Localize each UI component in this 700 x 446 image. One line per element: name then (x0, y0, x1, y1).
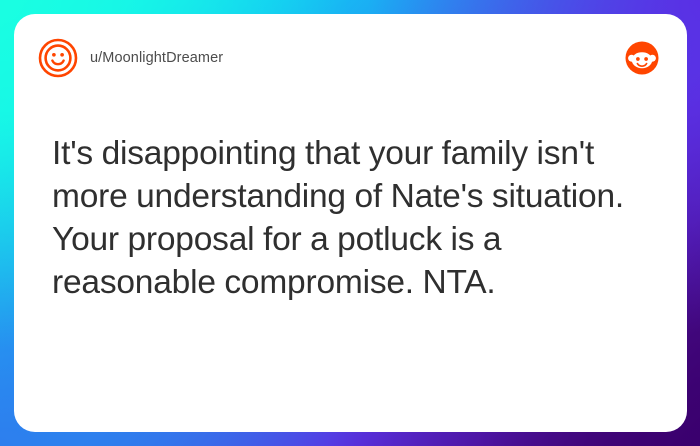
card-body: It's disappointing that your family isn'… (38, 80, 661, 408)
quote-text: It's disappointing that your family isn'… (38, 132, 661, 356)
gradient-backdrop: u/MoonlightDreamer It's disappointing th… (0, 0, 700, 446)
author-username: u/MoonlightDreamer (90, 50, 223, 66)
card-header: u/MoonlightDreamer (38, 36, 661, 80)
reddit-snoo-logo-icon[interactable] (625, 41, 659, 75)
author-block: u/MoonlightDreamer (38, 38, 223, 78)
quote-card: u/MoonlightDreamer It's disappointing th… (14, 14, 687, 432)
smiley-face-avatar-icon (38, 38, 78, 78)
